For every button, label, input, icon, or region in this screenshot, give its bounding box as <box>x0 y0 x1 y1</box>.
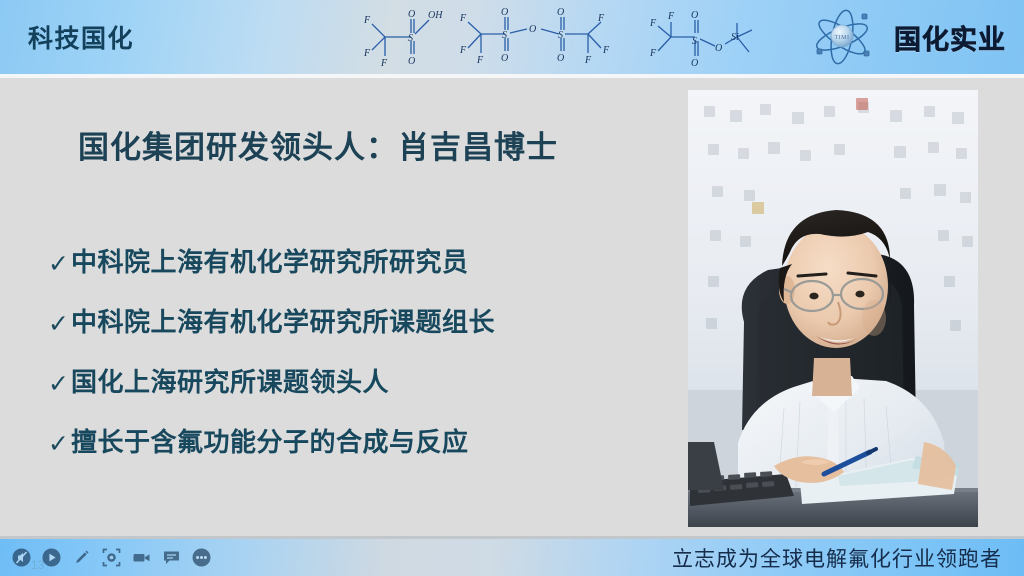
bullet-list: ✓ 中科院上海有机化学研究所研究员 ✓ 中科院上海有机化学研究所课题组长 ✓ 国… <box>48 248 658 488</box>
page-number: 13 <box>31 558 44 572</box>
chem-structure-triflic-acid: F F F S O O OH <box>355 4 450 70</box>
svg-text:O: O <box>501 53 508 64</box>
svg-text:S: S <box>558 30 563 41</box>
svg-text:O: O <box>715 43 722 54</box>
svg-text:F: F <box>667 11 675 22</box>
svg-text:S: S <box>502 30 507 41</box>
list-item-label: 国化上海研究所课题领头人 <box>71 368 389 397</box>
check-icon: ✓ <box>48 372 71 397</box>
slide-header: 科技国化 F F F S <box>0 0 1024 74</box>
svg-text:F: F <box>597 13 605 24</box>
svg-text:O: O <box>557 7 564 18</box>
svg-text:S: S <box>408 33 413 44</box>
screenshot-icon[interactable] <box>102 548 121 567</box>
check-icon: ✓ <box>48 252 71 277</box>
svg-text:O: O <box>501 7 508 18</box>
list-item: ✓ 擅长于含氟功能分子的合成与反应 <box>48 428 658 457</box>
list-item: ✓ 中科院上海有机化学研究所课题组长 <box>48 308 658 337</box>
svg-text:F: F <box>363 15 371 26</box>
svg-text:O: O <box>691 10 698 21</box>
check-icon: ✓ <box>48 432 71 457</box>
svg-text:F: F <box>380 58 388 69</box>
page-title: 国化集团研发领头人：肖吉昌博士 <box>78 122 558 167</box>
portrait-photo <box>688 90 978 527</box>
comment-icon[interactable] <box>162 548 181 567</box>
pencil-icon[interactable] <box>72 548 91 567</box>
svg-text:F: F <box>476 55 484 66</box>
svg-text:F: F <box>602 45 610 56</box>
svg-text:F: F <box>649 48 657 59</box>
header-separator <box>0 74 1024 78</box>
brand-title-left: 科技国化 <box>28 19 134 55</box>
volume-mute-icon[interactable] <box>12 548 31 567</box>
svg-text:F: F <box>649 18 657 29</box>
slide-toolbar-bar: 13 立志成为全球电解氟化行业领跑者 <box>0 539 1024 576</box>
footer-tagline: 立志成为全球电解氟化行业领跑者 <box>672 539 1002 576</box>
list-item-label: 中科院上海有机化学研究所研究员 <box>71 248 469 277</box>
svg-text:F: F <box>459 45 467 56</box>
chem-structure-triflic-anhydride: F F F S O O O S O O F F F <box>455 4 635 70</box>
svg-text:Si: Si <box>731 32 739 43</box>
svg-text:O: O <box>529 24 536 35</box>
more-ellipsis-icon[interactable] <box>192 548 211 567</box>
chem-structure-tms-triflate: F F F S O O O Si <box>645 4 760 70</box>
company-logo: TIMI 国化实业 <box>812 8 1006 66</box>
svg-text:F: F <box>584 55 592 66</box>
presentation-slide: 科技国化 F F F S <box>0 0 1024 576</box>
svg-text:F: F <box>459 13 467 24</box>
svg-text:O: O <box>557 53 564 64</box>
svg-text:O: O <box>408 9 415 20</box>
logo-text: 国化实业 <box>894 18 1006 57</box>
atom-icon: TIMI <box>812 8 890 66</box>
list-item-label: 擅长于含氟功能分子的合成与反应 <box>71 428 469 457</box>
svg-text:OH: OH <box>428 10 443 21</box>
list-item: ✓ 中科院上海有机化学研究所研究员 <box>48 248 658 277</box>
svg-text:O: O <box>691 58 698 69</box>
svg-text:S: S <box>692 36 697 47</box>
svg-text:TIMI: TIMI <box>835 35 850 41</box>
video-camera-icon[interactable] <box>132 548 151 567</box>
svg-text:F: F <box>363 48 371 59</box>
check-icon: ✓ <box>48 312 71 337</box>
play-icon[interactable] <box>42 548 61 567</box>
list-item-label: 中科院上海有机化学研究所课题组长 <box>71 308 495 337</box>
list-item: ✓ 国化上海研究所课题领头人 <box>48 368 658 397</box>
svg-text:O: O <box>408 56 415 67</box>
